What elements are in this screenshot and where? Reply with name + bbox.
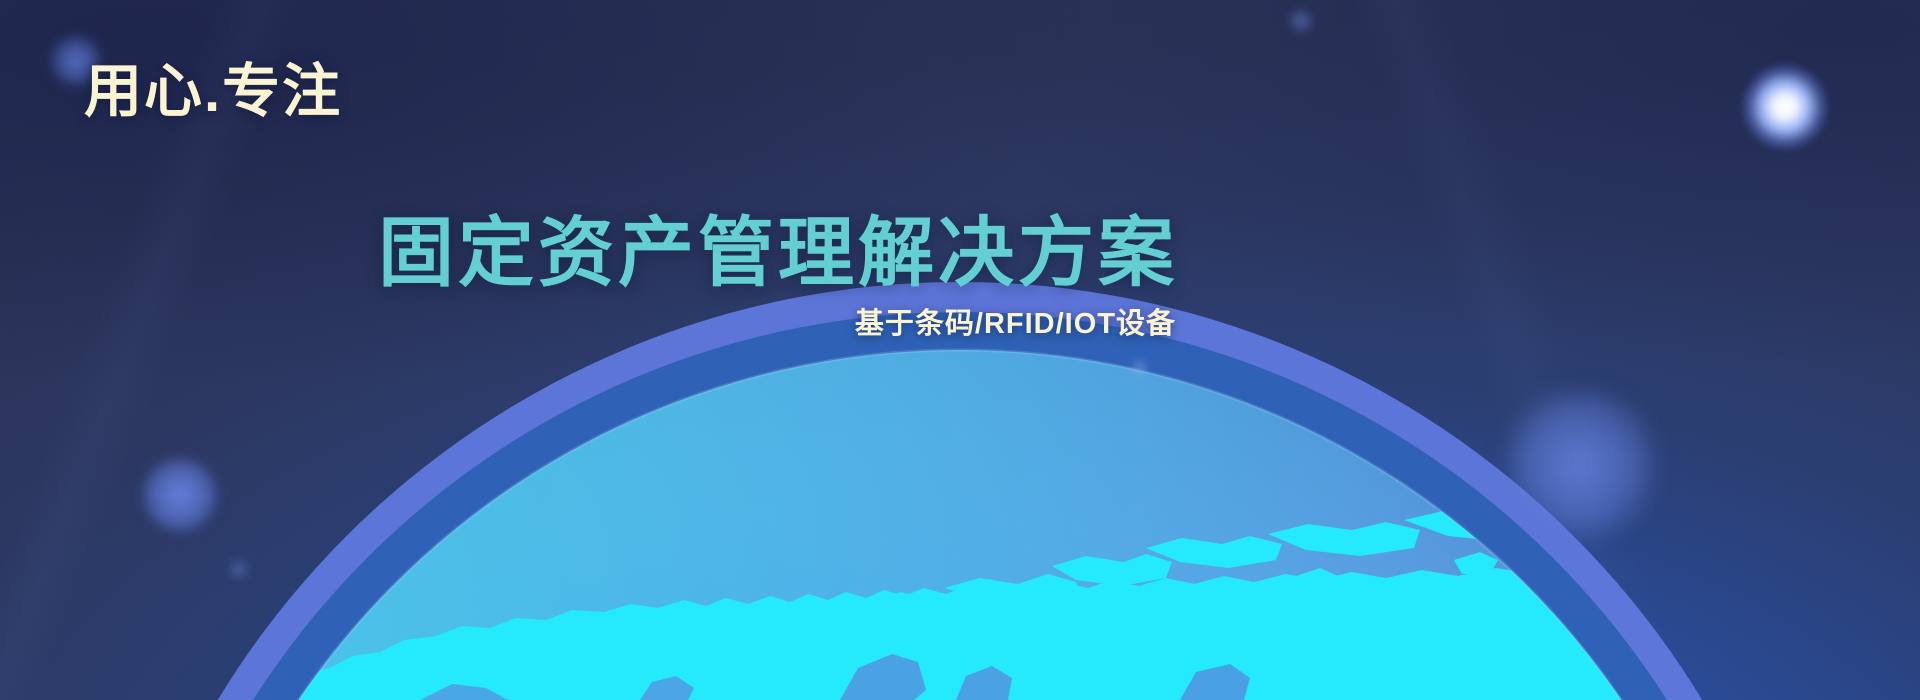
- banner-stage: 用心.专注 固定资产管理解决方案 基于条码/RFID/IOT设备: [0, 0, 1920, 700]
- brand-slogan: 用心.专注: [84, 60, 342, 124]
